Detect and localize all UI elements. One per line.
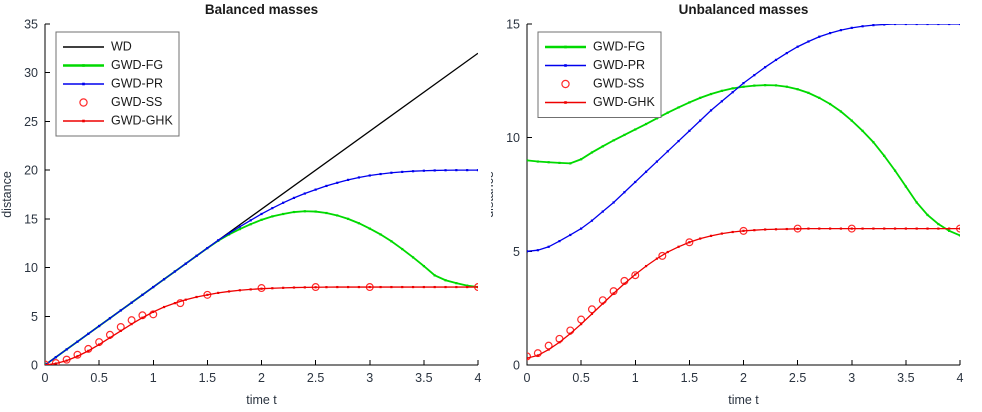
figure-canvas: Balanced masses0510152025303500.511.522.… [0, 0, 982, 412]
series-marker-gwd-pr [710, 109, 712, 111]
series-marker-gwd-pr [797, 46, 799, 48]
series-marker-gwd-pr [76, 341, 78, 343]
series-marker-gwd-pr [239, 226, 241, 228]
series-marker-gwd-fg [677, 106, 679, 108]
series-marker-gwd-pr [937, 23, 939, 25]
series-marker-gwd-fg [455, 282, 457, 284]
x-tick-label: 1.5 [681, 371, 698, 385]
legend-label: GWD-PR [593, 58, 645, 72]
series-marker-gwd-fg [369, 228, 371, 230]
series-marker-gwd-pr [466, 169, 468, 171]
x-tick-label: 3.5 [415, 371, 432, 385]
series-marker-gwd-ghk [315, 286, 317, 288]
legend: GWD-FGGWD-PRGWD-SSGWD-GHK [538, 32, 661, 118]
series-marker-gwd-fg [401, 248, 403, 250]
x-tick-label: 0 [42, 371, 49, 385]
series-marker-gwd-fg [667, 112, 669, 114]
x-tick-label: 3 [366, 371, 373, 385]
series-marker-gwd-ghk [602, 303, 604, 305]
chart-title-right: Unbalanced masses [679, 2, 809, 17]
x-tick-label: 4 [957, 371, 964, 385]
series-marker-gwd-fg [742, 86, 744, 88]
series-marker-gwd-ghk [591, 313, 593, 315]
series-marker-gwd-ghk [174, 302, 176, 304]
series-marker-gwd-pr [818, 36, 820, 38]
series-marker-gwd-fg [851, 120, 853, 122]
series-marker-gwd-ghk [667, 251, 669, 253]
legend-swatch-marker [82, 120, 85, 123]
series-marker-gwd-fg [444, 279, 446, 281]
series-marker-gwd-fg [271, 215, 273, 217]
series-marker-gwd-pr [948, 23, 950, 25]
series-marker-gwd-ghk [807, 228, 809, 230]
series-marker-gwd-ghk [423, 286, 425, 288]
chart-panel-unbalanced-masses: Unbalanced masses05101500.511.522.533.54… [491, 0, 982, 412]
series-marker-gwd-fg [732, 87, 734, 89]
series-marker-gwd-fg [250, 223, 252, 225]
series-marker-gwd-ghk [250, 288, 252, 290]
series-marker-gwd-pr [688, 130, 690, 132]
series-marker-gwd-fg [347, 218, 349, 220]
series-marker-gwd-fg [558, 162, 560, 164]
series-marker-gwd-pr [347, 179, 349, 181]
series-marker-gwd-fg [883, 155, 885, 157]
series-line-gwd-ghk [527, 229, 960, 359]
series-marker-gwd-fg [840, 110, 842, 112]
series-marker-gwd-ghk [152, 311, 154, 313]
series-marker-gwd-fg [282, 213, 284, 215]
series-marker-gwd-pr [217, 239, 219, 241]
x-tick-label: 1.5 [199, 371, 216, 385]
series-marker-gwd-ghk [851, 228, 853, 230]
series-marker-gwd-pr [315, 189, 317, 191]
series-marker-gwd-ghk [916, 228, 918, 230]
y-tick-label: 10 [506, 131, 520, 145]
y-tick-label: 30 [24, 66, 38, 80]
series-marker-gwd-ghk [195, 296, 197, 298]
series-marker-gwd-pr [477, 169, 479, 171]
series-marker-gwd-fg [379, 233, 381, 235]
series-marker-gwd-ghk [710, 235, 712, 237]
series-marker-gwd-ghk [98, 343, 100, 345]
series-marker-gwd-fg [926, 214, 928, 216]
series-marker-gwd-fg [688, 101, 690, 103]
series-marker-gwd-ghk [66, 360, 68, 362]
x-tick-label: 0.5 [90, 371, 107, 385]
series-marker-gwd-ghk [569, 333, 571, 335]
series-marker-gwd-ghk [905, 228, 907, 230]
series-marker-gwd-fg [304, 210, 306, 212]
legend-label: GWD-SS [111, 95, 162, 109]
series-marker-gwd-pr [444, 169, 446, 171]
series-marker-gwd-fg [775, 84, 777, 86]
series-marker-gwd-fg [325, 212, 327, 214]
series-marker-gwd-pr [537, 249, 539, 251]
legend-label: GWD-FG [593, 39, 645, 53]
y-tick-label: 15 [24, 212, 38, 226]
series-marker-gwd-ghk [872, 228, 874, 230]
series-marker-gwd-pr [623, 191, 625, 193]
series-marker-gwd-ghk [271, 287, 273, 289]
legend-swatch-marker [564, 64, 567, 67]
series-marker-gwd-pr [87, 333, 89, 335]
series-marker-gwd-ghk [937, 228, 939, 230]
series-marker-gwd-ghk [818, 228, 820, 230]
series-marker-gwd-ghk [548, 348, 550, 350]
y-tick-label: 15 [506, 18, 520, 32]
series-marker-gwd-pr [152, 286, 154, 288]
legend-label: WD [111, 39, 132, 53]
series-marker-gwd-pr [526, 250, 528, 252]
series-marker-gwd-ghk [840, 228, 842, 230]
series-marker-gwd-pr [926, 23, 928, 25]
x-tick-label: 0 [524, 371, 531, 385]
series-marker-gwd-ghk [401, 286, 403, 288]
series-marker-gwd-ghk [526, 357, 528, 359]
series-marker-gwd-ghk [163, 306, 165, 308]
series-marker-gwd-pr [916, 23, 918, 25]
series-marker-gwd-pr [732, 91, 734, 93]
series-marker-gwd-ghk [185, 299, 187, 301]
series-marker-gwd-ghk [87, 350, 89, 352]
series-marker-gwd-ghk [293, 286, 295, 288]
series-marker-gwd-pr [634, 181, 636, 183]
x-tick-label: 4 [475, 371, 482, 385]
x-axis-label: time t [246, 393, 277, 407]
x-tick-label: 1 [150, 371, 157, 385]
series-marker-gwd-ghk [829, 228, 831, 230]
series-marker-gwd-ghk [228, 290, 230, 292]
series-marker-gwd-ghk [239, 289, 241, 291]
legend-label: GWD-SS [593, 76, 644, 90]
series-marker-gwd-fg [293, 211, 295, 213]
series-marker-gwd-fg [753, 85, 755, 87]
legend-swatch-marker [82, 64, 85, 67]
series-marker-gwd-fg [537, 160, 539, 162]
series-marker-gwd-fg [764, 84, 766, 86]
series-marker-gwd-pr [861, 25, 863, 27]
series-marker-gwd-pr [613, 201, 615, 203]
series-marker-gwd-pr [959, 23, 961, 25]
legend-swatch-marker [564, 46, 567, 49]
x-tick-label: 2.5 [307, 371, 324, 385]
series-marker-gwd-pr [98, 325, 100, 327]
x-tick-label: 0.5 [572, 371, 589, 385]
series-marker-gwd-ghk [656, 258, 658, 260]
series-marker-gwd-ghk [444, 286, 446, 288]
series-marker-gwd-ghk [206, 294, 208, 296]
series-marker-gwd-fg [905, 185, 907, 187]
series-marker-gwd-ghk [369, 286, 371, 288]
series-marker-gwd-pr [656, 160, 658, 162]
series-marker-gwd-pr [829, 32, 831, 34]
series-marker-gwd-fg [699, 97, 701, 99]
series-marker-gwd-fg [526, 159, 528, 161]
series-marker-gwd-fg [937, 223, 939, 225]
chart-svg-left: Balanced masses0510152025303500.511.522.… [0, 0, 491, 412]
y-axis-label: distance [491, 171, 496, 218]
series-marker-gwd-ghk [558, 341, 560, 343]
series-marker-gwd-ghk [434, 286, 436, 288]
series-marker-gwd-fg [623, 134, 625, 136]
series-marker-gwd-pr [358, 176, 360, 178]
series-marker-gwd-ghk [623, 283, 625, 285]
series-marker-gwd-pr [905, 23, 907, 25]
series-marker-gwd-pr [379, 173, 381, 175]
series-marker-gwd-ghk [379, 286, 381, 288]
series-marker-gwd-fg [818, 97, 820, 99]
series-marker-gwd-pr [260, 213, 262, 215]
series-marker-gwd-pr [401, 171, 403, 173]
series-marker-gwd-pr [894, 23, 896, 25]
legend-label: GWD-PR [111, 76, 163, 90]
series-marker-gwd-fg [721, 90, 723, 92]
series-marker-gwd-fg [916, 201, 918, 203]
series-marker-gwd-pr [851, 27, 853, 29]
series-marker-gwd-ghk [948, 228, 950, 230]
series-marker-gwd-fg [390, 240, 392, 242]
series-marker-gwd-ghk [764, 228, 766, 230]
series-marker-gwd-pr [434, 169, 436, 171]
series-marker-gwd-pr [120, 309, 122, 311]
series-marker-gwd-ghk [861, 228, 863, 230]
series-marker-gwd-fg [336, 214, 338, 216]
series-marker-gwd-pr [195, 255, 197, 257]
series-marker-gwd-pr [141, 294, 143, 296]
legend-label: GWD-GHK [111, 113, 173, 127]
series-marker-gwd-pr [699, 120, 701, 122]
series-marker-gwd-fg [894, 170, 896, 172]
y-tick-label: 0 [31, 359, 38, 373]
series-marker-gwd-pr [423, 170, 425, 172]
series-marker-gwd-pr [602, 210, 604, 212]
series-marker-gwd-ghk [775, 228, 777, 230]
series-marker-gwd-pr [412, 170, 414, 172]
series-marker-gwd-pr [677, 140, 679, 142]
series-marker-gwd-ghk [786, 228, 788, 230]
y-tick-label: 0 [513, 359, 520, 373]
series-marker-gwd-ghk [613, 292, 615, 294]
series-marker-gwd-pr [558, 240, 560, 242]
series-marker-gwd-fg [872, 141, 874, 143]
series-marker-gwd-pr [163, 278, 165, 280]
series-marker-gwd-pr [591, 220, 593, 222]
series-marker-gwd-ghk [477, 286, 479, 288]
series-marker-gwd-pr [185, 263, 187, 265]
series-marker-gwd-pr [580, 228, 582, 230]
series-marker-gwd-ghk [412, 286, 414, 288]
x-tick-label: 2 [258, 371, 265, 385]
series-marker-gwd-ghk [537, 354, 539, 356]
series-marker-gwd-ghk [141, 317, 143, 319]
series-marker-gwd-fg [797, 88, 799, 90]
x-axis-label: time t [728, 393, 759, 407]
series-marker-gwd-ghk [645, 265, 647, 267]
series-marker-gwd-ghk [699, 238, 701, 240]
series-marker-gwd-pr [645, 171, 647, 173]
chart-title-left: Balanced masses [205, 2, 318, 17]
series-marker-gwd-pr [369, 174, 371, 176]
series-marker-gwd-ghk [109, 337, 111, 339]
y-axis-label: distance [0, 171, 14, 218]
series-marker-gwd-ghk [120, 330, 122, 332]
legend-swatch-marker [564, 101, 567, 104]
series-marker-gwd-fg [580, 158, 582, 160]
series-marker-gwd-pr [753, 74, 755, 76]
series-marker-gwd-ghk [466, 286, 468, 288]
series-marker-gwd-pr [325, 185, 327, 187]
series-marker-gwd-fg [634, 128, 636, 130]
series-marker-gwd-ghk [732, 231, 734, 233]
series-marker-gwd-ghk [688, 241, 690, 243]
series-marker-gwd-fg [602, 145, 604, 147]
series-marker-gwd-pr [131, 302, 133, 304]
series-marker-gwd-fg [710, 93, 712, 95]
series-marker-gwd-pr [667, 150, 669, 152]
series-line-gwd-pr [45, 170, 478, 365]
x-tick-label: 2.5 [789, 371, 806, 385]
series-marker-gwd-pr [282, 202, 284, 204]
series-marker-gwd-ghk [677, 246, 679, 248]
series-marker-gwd-fg [591, 151, 593, 153]
series-marker-gwd-pr [250, 219, 252, 221]
y-tick-label: 10 [24, 261, 38, 275]
series-marker-gwd-fg [260, 219, 262, 221]
series-marker-gwd-ghk [260, 288, 262, 290]
series-marker-gwd-ghk [883, 228, 885, 230]
x-tick-label: 2 [740, 371, 747, 385]
series-marker-gwd-pr [293, 197, 295, 199]
series-marker-gwd-pr [764, 66, 766, 68]
series-marker-gwd-ghk [217, 292, 219, 294]
y-tick-label: 25 [24, 115, 38, 129]
series-marker-gwd-pr [840, 29, 842, 31]
series-marker-gwd-pr [55, 356, 57, 358]
series-marker-gwd-pr [109, 317, 111, 319]
series-marker-gwd-fg [959, 234, 961, 236]
series-marker-gwd-fg [807, 92, 809, 94]
series-marker-gwd-pr [721, 100, 723, 102]
legend-label: GWD-GHK [593, 95, 655, 109]
x-tick-label: 3 [848, 371, 855, 385]
y-tick-label: 5 [31, 310, 38, 324]
series-marker-gwd-ghk [304, 286, 306, 288]
chart-svg-right: Unbalanced masses05101500.511.522.533.54… [491, 0, 982, 412]
series-marker-gwd-pr [786, 52, 788, 54]
series-marker-gwd-ghk [455, 286, 457, 288]
series-marker-gwd-ghk [44, 364, 46, 366]
series-marker-gwd-pr [569, 234, 571, 236]
y-tick-label: 20 [24, 164, 38, 178]
series-marker-gwd-ghk [894, 228, 896, 230]
series-marker-gwd-fg [239, 228, 241, 230]
series-line-gwd-ghk [45, 287, 478, 365]
series-marker-gwd-ghk [336, 286, 338, 288]
chart-panel-balanced-masses: Balanced masses0510152025303500.511.522.… [0, 0, 491, 412]
series-marker-gwd-fg [786, 86, 788, 88]
series-marker-gwd-fg [358, 222, 360, 224]
legend-label: GWD-FG [111, 58, 163, 72]
series-marker-gwd-ghk [742, 230, 744, 232]
series-marker-gwd-pr [66, 348, 68, 350]
series-marker-gwd-pr [206, 247, 208, 249]
x-tick-label: 3.5 [897, 371, 914, 385]
series-marker-gwd-fg [829, 103, 831, 105]
series-marker-gwd-ghk [959, 228, 961, 230]
series-marker-gwd-fg [412, 256, 414, 258]
series-marker-gwd-pr [455, 169, 457, 171]
series-marker-gwd-fg [423, 265, 425, 267]
series-marker-gwd-ghk [347, 286, 349, 288]
series-marker-gwd-ghk [282, 287, 284, 289]
series-marker-gwd-pr [228, 232, 230, 234]
series-marker-gwd-fg [548, 161, 550, 163]
series-marker-gwd-pr [742, 82, 744, 84]
series-marker-gwd-fg [948, 230, 950, 232]
series-marker-gwd-ghk [358, 286, 360, 288]
series-marker-gwd-pr [775, 59, 777, 61]
series-marker-gwd-ghk [76, 355, 78, 357]
series-marker-gwd-ghk [753, 229, 755, 231]
series-marker-gwd-fg [861, 130, 863, 132]
series-marker-gwd-pr [883, 23, 885, 25]
series-marker-gwd-fg [315, 210, 317, 212]
series-marker-gwd-ghk [390, 286, 392, 288]
series-marker-gwd-pr [807, 40, 809, 42]
series-marker-gwd-fg [569, 162, 571, 164]
series-marker-gwd-ghk [580, 323, 582, 325]
series-marker-gwd-ghk [721, 233, 723, 235]
series-marker-gwd-ghk [797, 228, 799, 230]
series-marker-gwd-fg [434, 274, 436, 276]
series-marker-gwd-ghk [926, 228, 928, 230]
series-marker-gwd-ghk [634, 273, 636, 275]
series-marker-gwd-ghk [325, 286, 327, 288]
series-marker-gwd-pr [548, 246, 550, 248]
series-marker-gwd-pr [304, 192, 306, 194]
series-marker-gwd-pr [336, 182, 338, 184]
legend-swatch-marker [82, 83, 85, 86]
series-marker-gwd-pr [872, 24, 874, 26]
series-marker-gwd-ghk [131, 323, 133, 325]
series-marker-gwd-fg [613, 139, 615, 141]
series-marker-gwd-pr [271, 207, 273, 209]
y-tick-label: 35 [24, 18, 38, 32]
series-marker-gwd-pr [174, 270, 176, 272]
legend: WDGWD-FGGWD-PRGWD-SSGWD-GHK [56, 32, 179, 136]
series-marker-gwd-pr [390, 172, 392, 174]
series-marker-gwd-ghk [55, 362, 57, 364]
y-tick-label: 5 [513, 245, 520, 259]
x-tick-label: 1 [632, 371, 639, 385]
series-marker-gwd-fg [645, 123, 647, 125]
